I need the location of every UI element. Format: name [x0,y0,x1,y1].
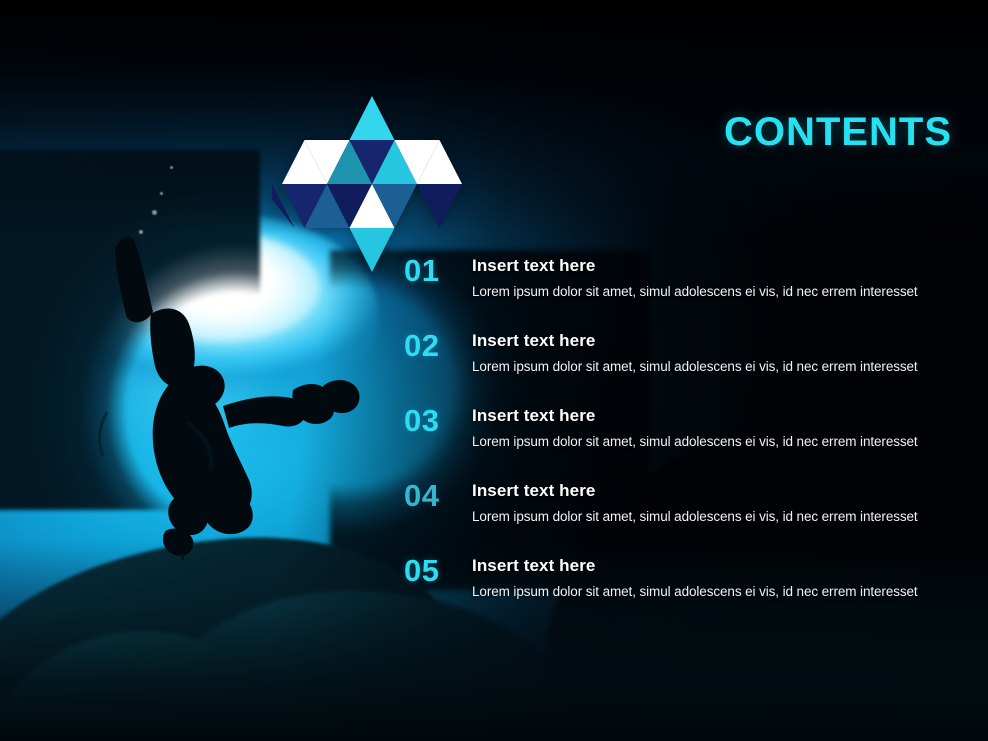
item-heading: Insert text here [472,481,595,501]
item-body: Lorem ipsum dolor sit amet, simul adoles… [472,434,918,449]
triangle-mosaic-logo [272,94,476,276]
page-title: CONTENTS [724,112,952,152]
bubble-icon [152,210,157,215]
list-item[interactable]: 02 Insert text here Lorem ipsum dolor si… [404,327,964,402]
presentation-slide: CONTENTS 01 Insert text here Lorem ipsum… [0,0,988,741]
item-heading: Insert text here [472,256,595,276]
item-number: 04 [404,480,458,511]
bubble-icon [160,192,163,195]
item-heading: Insert text here [472,406,595,426]
item-body: Lorem ipsum dolor sit amet, simul adoles… [472,509,918,524]
item-number: 01 [404,255,458,286]
item-body: Lorem ipsum dolor sit amet, simul adoles… [472,359,918,374]
bubble-icon [170,166,173,169]
item-number: 03 [404,405,458,436]
item-number: 02 [404,330,458,361]
list-item[interactable]: 01 Insert text here Lorem ipsum dolor si… [404,252,964,327]
item-heading: Insert text here [472,556,595,576]
contents-list: 01 Insert text here Lorem ipsum dolor si… [404,252,964,627]
item-number: 05 [404,555,458,586]
item-body: Lorem ipsum dolor sit amet, simul adoles… [472,584,918,599]
item-heading: Insert text here [472,331,595,351]
list-item[interactable]: 03 Insert text here Lorem ipsum dolor si… [404,402,964,477]
scuba-diver-silhouette [55,230,385,560]
list-item[interactable]: 05 Insert text here Lorem ipsum dolor si… [404,552,964,627]
item-body: Lorem ipsum dolor sit amet, simul adoles… [472,284,918,299]
list-item[interactable]: 04 Insert text here Lorem ipsum dolor si… [404,477,964,552]
